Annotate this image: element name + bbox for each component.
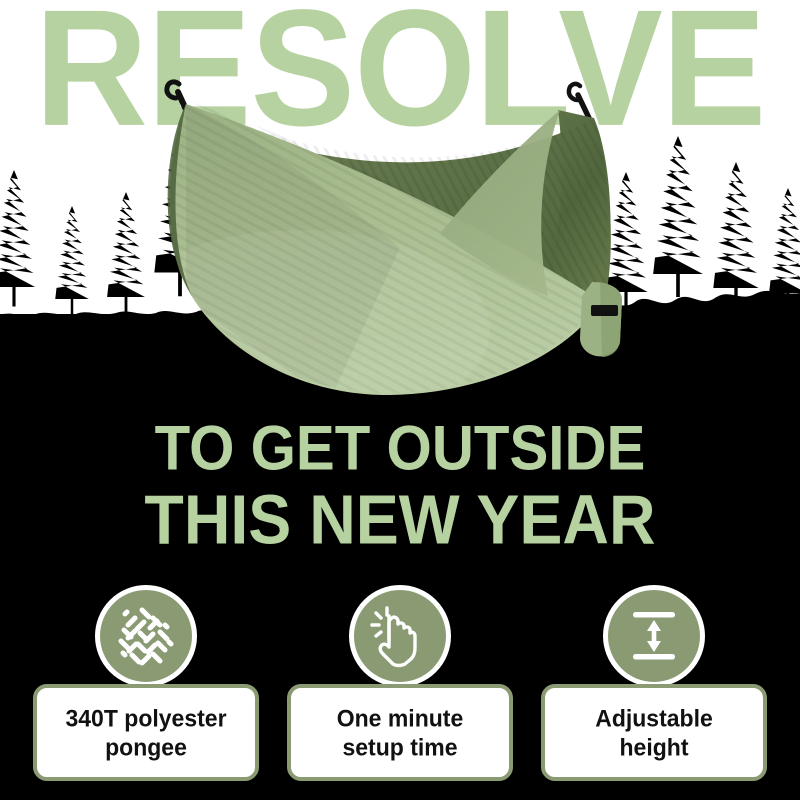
tap-finger-icon: [367, 603, 433, 669]
feature-list: 340T polyester pongee: [0, 585, 800, 785]
feature-item-setup[interactable]: One minute setup time: [287, 585, 513, 782]
feature-icon-circle: [603, 585, 705, 687]
feature-card[interactable]: 340T polyester pongee: [33, 684, 259, 781]
feature-label: Adjustable height: [595, 704, 713, 761]
poster-canvas: RESOLVE: [0, 0, 800, 800]
tree-silhouette-band: [0, 118, 800, 348]
feature-icon-circle: [349, 585, 451, 687]
feature-item-fabric[interactable]: 340T polyester pongee: [33, 585, 259, 782]
feature-label: 340T polyester pongee: [65, 704, 226, 761]
feature-item-height[interactable]: Adjustable height: [541, 585, 767, 782]
feature-card[interactable]: Adjustable height: [541, 684, 767, 781]
fabric-weave-icon: [113, 603, 179, 669]
adjustable-height-icon: [621, 603, 687, 669]
feature-label: One minute setup time: [337, 704, 464, 761]
subheadline-line-2: THIS NEW YEAR: [0, 485, 800, 557]
feature-icon-circle: [95, 585, 197, 687]
subheadline: TO GET OUTSIDE THIS NEW YEAR: [0, 418, 800, 553]
feature-card[interactable]: One minute setup time: [287, 684, 513, 781]
subheadline-line-1: TO GET OUTSIDE: [0, 414, 800, 481]
